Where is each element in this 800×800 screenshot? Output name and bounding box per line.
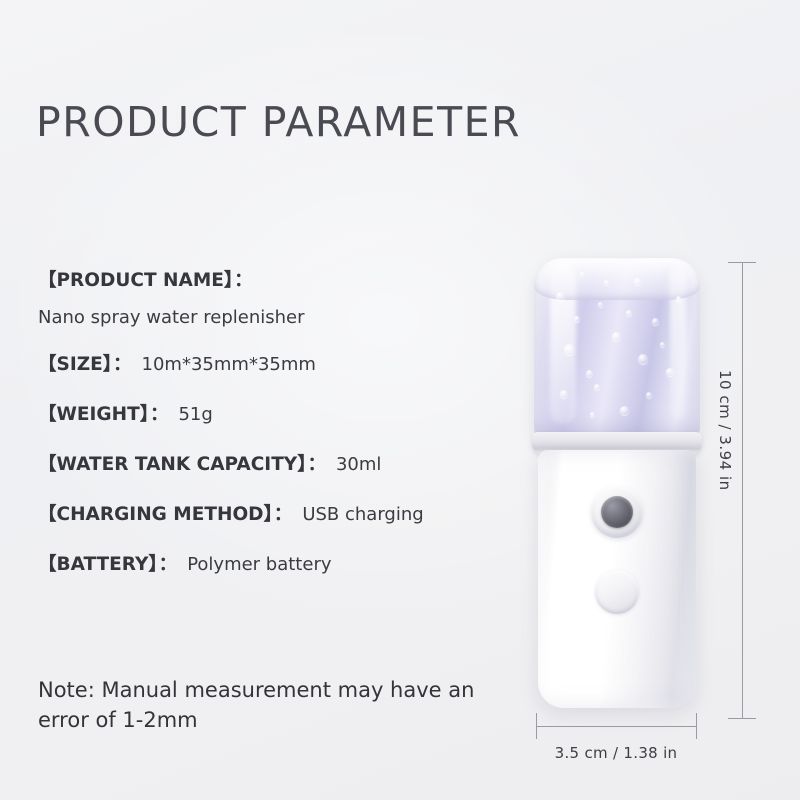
spec-colon-weight: ： [149,403,171,424]
spec-label-product-name: 【PRODUCT NAME】 [38,270,233,291]
spec-label-water-tank-capacity: 【WATER TANK CAPACITY】 [38,454,306,475]
spec-value-charging-method: USB charging [302,504,423,525]
spec-value-water-tank-capacity: 30ml [336,454,381,475]
spec-row-weight: 【WEIGHT】：51g [38,402,508,428]
height-dimension-tick-top [728,262,756,263]
width-dimension-line [536,726,696,727]
spec-row-product-name: 【PRODUCT NAME】： Nano spray water repleni… [38,268,508,330]
width-dimension-label: 3.5 cm / 1.38 in [536,744,696,762]
product-nozzle-inner [601,496,633,528]
spec-colon-charging-method: ： [273,503,295,524]
spec-label-weight: 【WEIGHT】 [38,404,149,425]
spec-value-weight: 51g [178,404,212,425]
height-dimension-label: 10 cm / 3.94 in [716,370,734,491]
spec-row-battery: 【BATTERY】：Polymer battery [38,552,508,578]
height-dimension-line [742,262,743,718]
width-dimension-tick-right [696,713,697,739]
spec-list: 【PRODUCT NAME】： Nano spray water repleni… [38,268,508,602]
product-body [538,450,696,708]
spec-label-battery: 【BATTERY】 [38,554,158,575]
measurement-note: Note: Manual measurement may have an err… [38,676,508,736]
height-dimension-tick-bottom [728,718,756,719]
product-image [524,258,710,718]
spec-row-size: 【SIZE】：10m*35mm*35mm [38,352,508,378]
page-title: PRODUCT PARAMETER [36,98,521,146]
spec-value-battery: Polymer battery [187,554,331,575]
spec-colon-water-tank-capacity: ： [306,453,328,474]
spec-row-water-tank-capacity: 【WATER TANK CAPACITY】：30ml [38,452,508,478]
spec-row-charging-method: 【CHARGING METHOD】：USB charging [38,502,508,528]
product-cap-highlight [534,258,700,300]
spec-value-size: 10m*35mm*35mm [142,354,316,375]
product-power-button [595,570,639,614]
spec-colon-battery: ： [158,553,180,574]
spec-colon-product-name: ： [233,269,255,290]
spec-colon-size: ： [112,353,134,374]
product-nozzle [591,486,643,538]
spec-label-size: 【SIZE】 [38,354,112,375]
product-parameter-page: PRODUCT PARAMETER 【PRODUCT NAME】： Nano s… [0,0,800,800]
spec-label-charging-method: 【CHARGING METHOD】 [38,504,273,525]
width-dimension-tick-left [536,713,537,739]
spec-value-product-name: Nano spray water replenisher [38,306,508,330]
